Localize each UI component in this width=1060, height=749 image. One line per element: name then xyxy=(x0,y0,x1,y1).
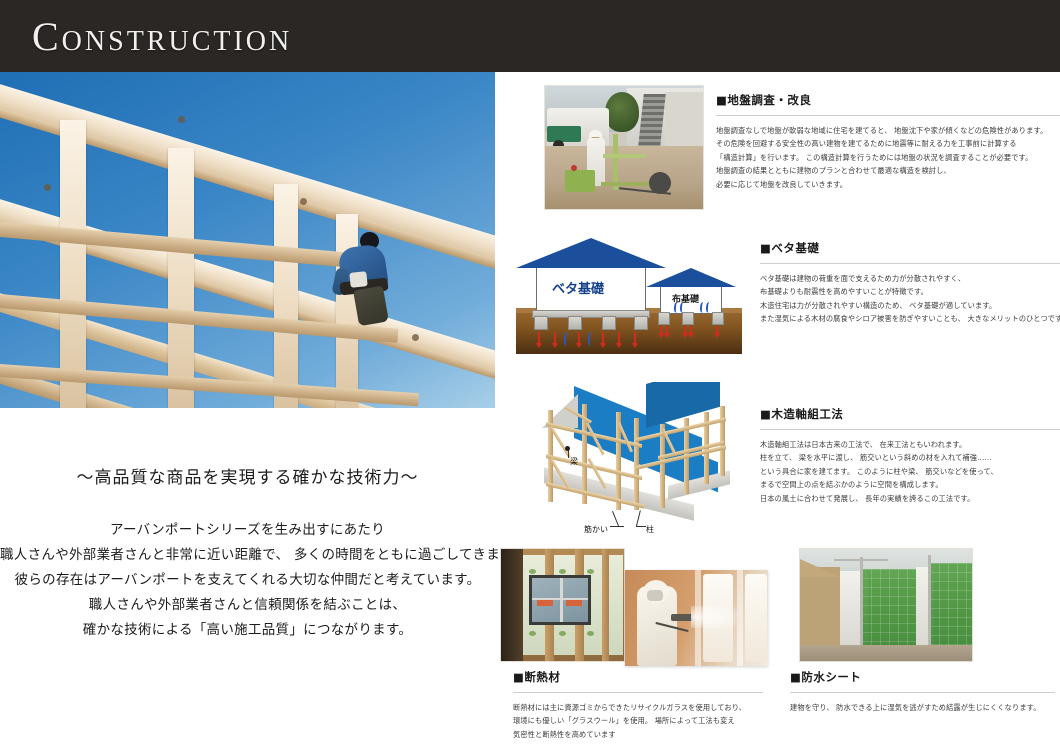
frame-label-beam: 梁 xyxy=(570,456,578,467)
section-heading: ■ベタ基礎 xyxy=(760,240,1060,256)
body-line: 建物を守り、 防水できる上に湿気を逃がすため結露が生じにくくなります。 xyxy=(790,701,1055,714)
body-line: 布基礎よりも耐震性を高めやすいことが特徴です。 xyxy=(760,285,1060,298)
body-line: 地盤調査の結果とともに建物のプランと合わせて最適な構造を検討し、 xyxy=(716,164,1060,177)
batt-logo xyxy=(529,569,536,574)
peg-hole xyxy=(178,116,185,123)
body-line: 必要に応じて地盤を改良していきます。 xyxy=(716,178,1060,191)
section-body: 断熱材には主に資源ゴミからできたリサイクルガラスを使用しており、 環境にも優しい… xyxy=(513,701,763,741)
nuno-footing xyxy=(658,312,670,325)
section-heading: ■防水シート xyxy=(790,669,1055,685)
section-heading: ■地盤調査・改良 xyxy=(716,92,1060,108)
load-arrow xyxy=(660,326,662,334)
section-body: ベタ基礎は建物の荷重を面で支えるため力が分散されやすく、 布基礎よりも耐震性を高… xyxy=(760,272,1060,326)
scaffold-rail xyxy=(834,559,888,561)
load-arrow xyxy=(684,326,686,334)
lead-line: 彼らの存在はアーバンポートを支えてくれる大切な仲間だと考えています。 xyxy=(0,568,495,593)
post-3 xyxy=(274,184,298,408)
lead-line: アーバンポートシリーズを生み出すにあたり xyxy=(0,518,495,543)
wood-frame-diagram: 梁 筋かい 柱 xyxy=(508,382,746,538)
photo-machine-light xyxy=(571,165,577,171)
scaffold-net xyxy=(930,563,972,651)
peg-hole xyxy=(44,184,51,191)
body-line: 木造軸組工法は日本古来の工法で、 在来工法ともいわれます。 xyxy=(760,438,1060,451)
section-ground-survey: ■地盤調査・改良 地盤調査なしで地盤が軟弱な地域に住宅を建てると、 地盤沈下や家… xyxy=(716,92,1060,191)
beta-footing xyxy=(634,316,648,330)
load-arrow xyxy=(666,326,668,334)
nuno-footing xyxy=(712,312,724,325)
load-arrow xyxy=(634,332,636,344)
scaffold-pole xyxy=(860,557,863,653)
post-2 xyxy=(168,148,194,408)
insulation-wall-photo xyxy=(501,549,624,661)
nuno-footing xyxy=(682,312,694,325)
worker-tool-pouch xyxy=(349,271,367,288)
load-arrow xyxy=(602,332,604,344)
batt-logo xyxy=(559,569,566,574)
leader-line xyxy=(612,511,619,526)
beta-slab xyxy=(532,310,650,318)
leader-dot xyxy=(565,446,570,451)
window-sticker xyxy=(537,600,553,606)
section-waterproof: ■防水シート 建物を守り、 防水できる上に湿気を逃がすため結露が生じにくくなりま… xyxy=(790,669,1055,714)
pillar xyxy=(634,418,639,510)
post-4 xyxy=(336,214,358,408)
leader-line xyxy=(636,510,641,526)
post-1 xyxy=(60,120,86,408)
lead-paragraph: アーバンポートシリーズを生み出すにあたり 職人さんや外部業者さんと非常に近い距離… xyxy=(0,518,495,643)
spray-foam-photo xyxy=(625,570,768,666)
body-line: ベタ基礎は建物の荷重を面で支えるため力が分散されやすく、 xyxy=(760,272,1060,285)
load-arrow xyxy=(538,332,540,344)
photo-worker-respirator xyxy=(647,590,663,601)
beta-footing xyxy=(534,316,548,330)
body-line: また湿気による木材の腐食やシロア被害を防ぎやすいことも、 大きなメリットのひとつ… xyxy=(760,312,1060,325)
waterproof-sheet-photo xyxy=(800,549,972,661)
section-body: 地盤調査なしで地盤が軟弱な地域に住宅を建てると、 地盤沈下や家が傾くなどの危険性… xyxy=(716,124,1060,191)
photo-timber-house xyxy=(800,567,840,647)
wall-stud xyxy=(737,570,743,666)
batt-logo xyxy=(587,569,594,574)
photo-building-right xyxy=(665,92,703,148)
photo-ground xyxy=(800,645,972,661)
scaffold-net xyxy=(862,569,916,651)
section-body: 建物を守り、 防水できる上に湿気を逃がすため結露が生じにくくなります。 xyxy=(790,701,1055,714)
body-line: 環境にも優しい「グラスウール」を使用。 場所によって工法も変え xyxy=(513,714,763,727)
section-divider xyxy=(760,429,1060,430)
beta-footing xyxy=(602,316,616,330)
section-divider xyxy=(790,692,1055,693)
beta-footing xyxy=(568,316,582,330)
page-header: Construction xyxy=(0,0,1060,72)
body-line: という具合に家を建てます。 このように柱や梁、 筋交いなどを使って、 xyxy=(760,465,1060,478)
body-line: 柱を立て、 梁を水平に渡し、 筋交いという斜めの材を入れて補強…… xyxy=(760,451,1060,464)
body-line: 断熱材には主に資源ゴミからできたリサイクルガラスを使用しており、 xyxy=(513,701,763,714)
window-sticker xyxy=(566,600,582,606)
body-line: まるで空間上の点を結ぶかのように空間を構成します。 xyxy=(760,478,1060,491)
body-line: 気密性と断熱性を高めています xyxy=(513,728,763,741)
page-title: Construction xyxy=(32,14,292,60)
lead-line: 確かな技術による「高い施工品質」につながります。 xyxy=(0,618,495,643)
section-heading: ■木造軸組工法 xyxy=(760,406,1060,422)
tagline: 〜高品質な商品を実現する確かな技術力〜 xyxy=(0,463,495,488)
section-insulation: ■断熱材 断熱材には主に資源ゴミからできたリサイクルガラスを使用しており、 環境… xyxy=(513,669,763,741)
net-mesh xyxy=(930,563,972,651)
net-mesh xyxy=(862,569,916,651)
leader-line xyxy=(568,450,569,458)
photo-green-machine xyxy=(565,170,595,192)
section-body: 木造軸組工法は日本古来の工法で、 在来工法ともいわれます。 柱を立て、 梁を水平… xyxy=(760,438,1060,505)
construction-page: Construction xyxy=(0,0,1060,749)
load-arrow xyxy=(690,326,692,334)
body-line: 木造住宅は力が分散されやすい構造のため、 ベタ基礎が適しています。 xyxy=(760,299,1060,312)
body-line: その危険を回避する安全性の高い建物を建てるために地震等に耐える力を工事前に計算す… xyxy=(716,137,1060,150)
photo-spray-mist xyxy=(691,606,737,628)
foam-insulation xyxy=(745,574,767,662)
body-line: 地盤調査なしで地盤が軟弱な地域に住宅を建てると、 地盤沈下や家が傾くなどの危険性… xyxy=(716,124,1060,137)
body-line: 日本の風土に合わせて発展し、 長年の実績を誇るこの工法です。 xyxy=(760,492,1060,505)
section-beta-foundation: ■ベタ基礎 ベタ基礎は建物の荷重を面で支えるため力が分散されやすく、 布基礎より… xyxy=(760,240,1060,326)
photo-tree xyxy=(605,92,639,132)
body-line: 「構造計算」を行います。 この構造計算を行うためには地盤の状況を調査することが必… xyxy=(716,151,1060,164)
photo-window xyxy=(529,575,591,625)
window-sash xyxy=(560,578,563,622)
section-wood-frame: ■木造軸組工法 木造軸組工法は日本古来の工法で、 在来工法ともいわれます。 柱を… xyxy=(760,406,1060,505)
peg-hole xyxy=(300,198,307,205)
batt-logo xyxy=(559,631,566,636)
batt-logo xyxy=(587,631,594,636)
foundation-comparison-diagram: ベタ基礎 布基礎 xyxy=(508,232,742,354)
section-divider xyxy=(760,263,1060,264)
frame-label-brace: 筋かい xyxy=(584,524,608,535)
beta-house-roof xyxy=(516,238,666,268)
peg-hole xyxy=(412,334,419,341)
section-divider xyxy=(513,692,763,693)
photo-truck-bed xyxy=(547,126,581,142)
hero-construction-photo xyxy=(0,72,495,408)
batt-logo xyxy=(529,631,536,636)
lead-line: 職人さんや外部業者さんと非常に近い距離で、 多くの時間をともに過ごしてきました。 xyxy=(0,543,495,568)
glasswool-batt xyxy=(607,555,623,655)
photo-spray-gun xyxy=(671,614,693,621)
photo-roof-edge xyxy=(800,559,840,577)
leader-line xyxy=(636,526,646,527)
beta-foundation-label: ベタ基礎 xyxy=(552,278,604,297)
wall-stud xyxy=(602,549,609,661)
load-arrow xyxy=(578,332,580,344)
frame-label-pillar: 柱 xyxy=(646,524,654,535)
ground-survey-photo xyxy=(545,86,703,209)
worker-legs xyxy=(353,286,389,327)
photo-shadow-wall xyxy=(501,549,523,661)
leader-line xyxy=(610,526,624,527)
photo-drill-arm xyxy=(603,154,645,158)
lead-line: 職人さんや外部業者さんと信頼関係を結ぶことは、 xyxy=(0,593,495,618)
load-arrow xyxy=(554,332,556,344)
section-heading: ■断熱材 xyxy=(513,669,763,685)
load-arrow xyxy=(618,332,620,344)
section-divider xyxy=(716,115,1060,116)
load-arrow xyxy=(716,326,718,334)
scaffold-pole xyxy=(928,555,931,653)
nuno-house-roof xyxy=(646,268,736,287)
